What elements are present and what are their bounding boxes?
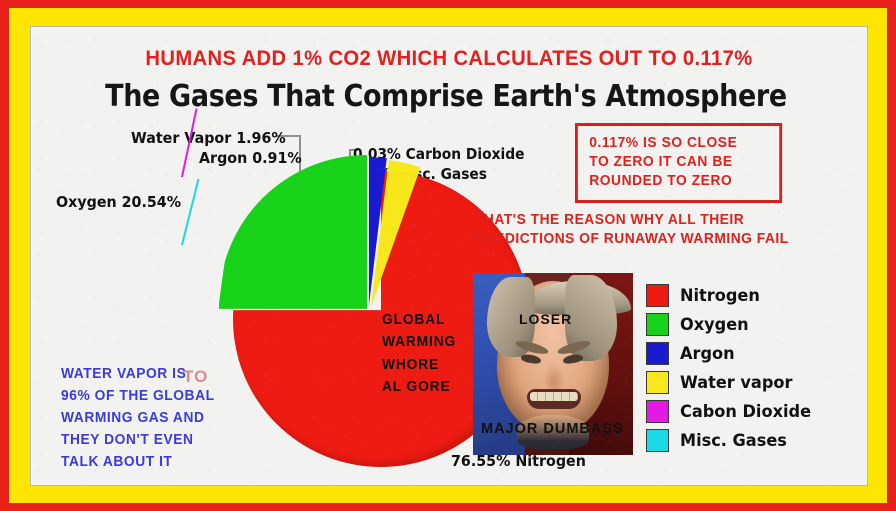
photo-caption-bottom: MAJOR DUMBASS (481, 421, 624, 437)
legend-label-water-vapor: Water vapor (680, 373, 792, 393)
annotation-water-vapor-note: WATER VAPOR IS 96% OF THE GLOBAL WARMING… (61, 363, 215, 473)
al-gore-photo: LOSER MAJOR DUMBASS (473, 273, 633, 455)
pie-slice-misc-gases (181, 179, 199, 245)
annotation-zero-box: 0.117% IS SO CLOSE TO ZERO IT CAN BE ROU… (575, 123, 782, 203)
legend-item-nitrogen: Nitrogen (646, 281, 818, 310)
chart-legend: Nitrogen Oxygen Argon Water vapor Cabon … (646, 281, 818, 455)
legend-item-water-vapor: Water vapor (646, 368, 818, 397)
pie-slice-carbon-dioxide (181, 108, 198, 177)
legend-label-misc-gases: Misc. Gases (680, 431, 787, 451)
legend-item-oxygen: Oxygen (646, 310, 818, 339)
photo-caption-top: LOSER (519, 311, 572, 327)
callout-oxygen: Oxygen 20.54% (56, 193, 181, 211)
legend-label-oxygen: Oxygen (680, 315, 749, 335)
legend-swatch-carbon-dioxide (646, 400, 669, 423)
legend-item-carbon-dioxide: Cabon Dioxide (646, 397, 818, 426)
poster-canvas: HUMANS ADD 1% CO2 WHICH CALCULATES OUT T… (30, 26, 868, 486)
legend-swatch-water-vapor (646, 371, 669, 394)
legend-label-argon: Argon (680, 344, 735, 364)
meme-poster: HUMANS ADD 1% CO2 WHICH CALCULATES OUT T… (0, 0, 896, 511)
legend-swatch-oxygen (646, 313, 669, 336)
legend-swatch-nitrogen (646, 284, 669, 307)
legend-label-nitrogen: Nitrogen (680, 286, 760, 306)
annotation-gore-label: GLOBAL WARMING WHORE AL GORE (382, 309, 456, 399)
legend-label-carbon-dioxide: Cabon Dioxide (680, 402, 811, 422)
legend-item-misc-gases: Misc. Gases (646, 426, 818, 455)
legend-item-argon: Argon (646, 339, 818, 368)
photo-teeth (530, 392, 578, 401)
photo-nose (543, 363, 565, 389)
legend-swatch-misc-gases (646, 429, 669, 452)
annotation-reason: THAT'S THE REASON WHY ALL THEIR PREDICTI… (475, 211, 789, 249)
headline-text: HUMANS ADD 1% CO2 WHICH CALCULATES OUT T… (56, 46, 842, 71)
legend-swatch-argon (646, 342, 669, 365)
photo-mouth (527, 389, 581, 409)
